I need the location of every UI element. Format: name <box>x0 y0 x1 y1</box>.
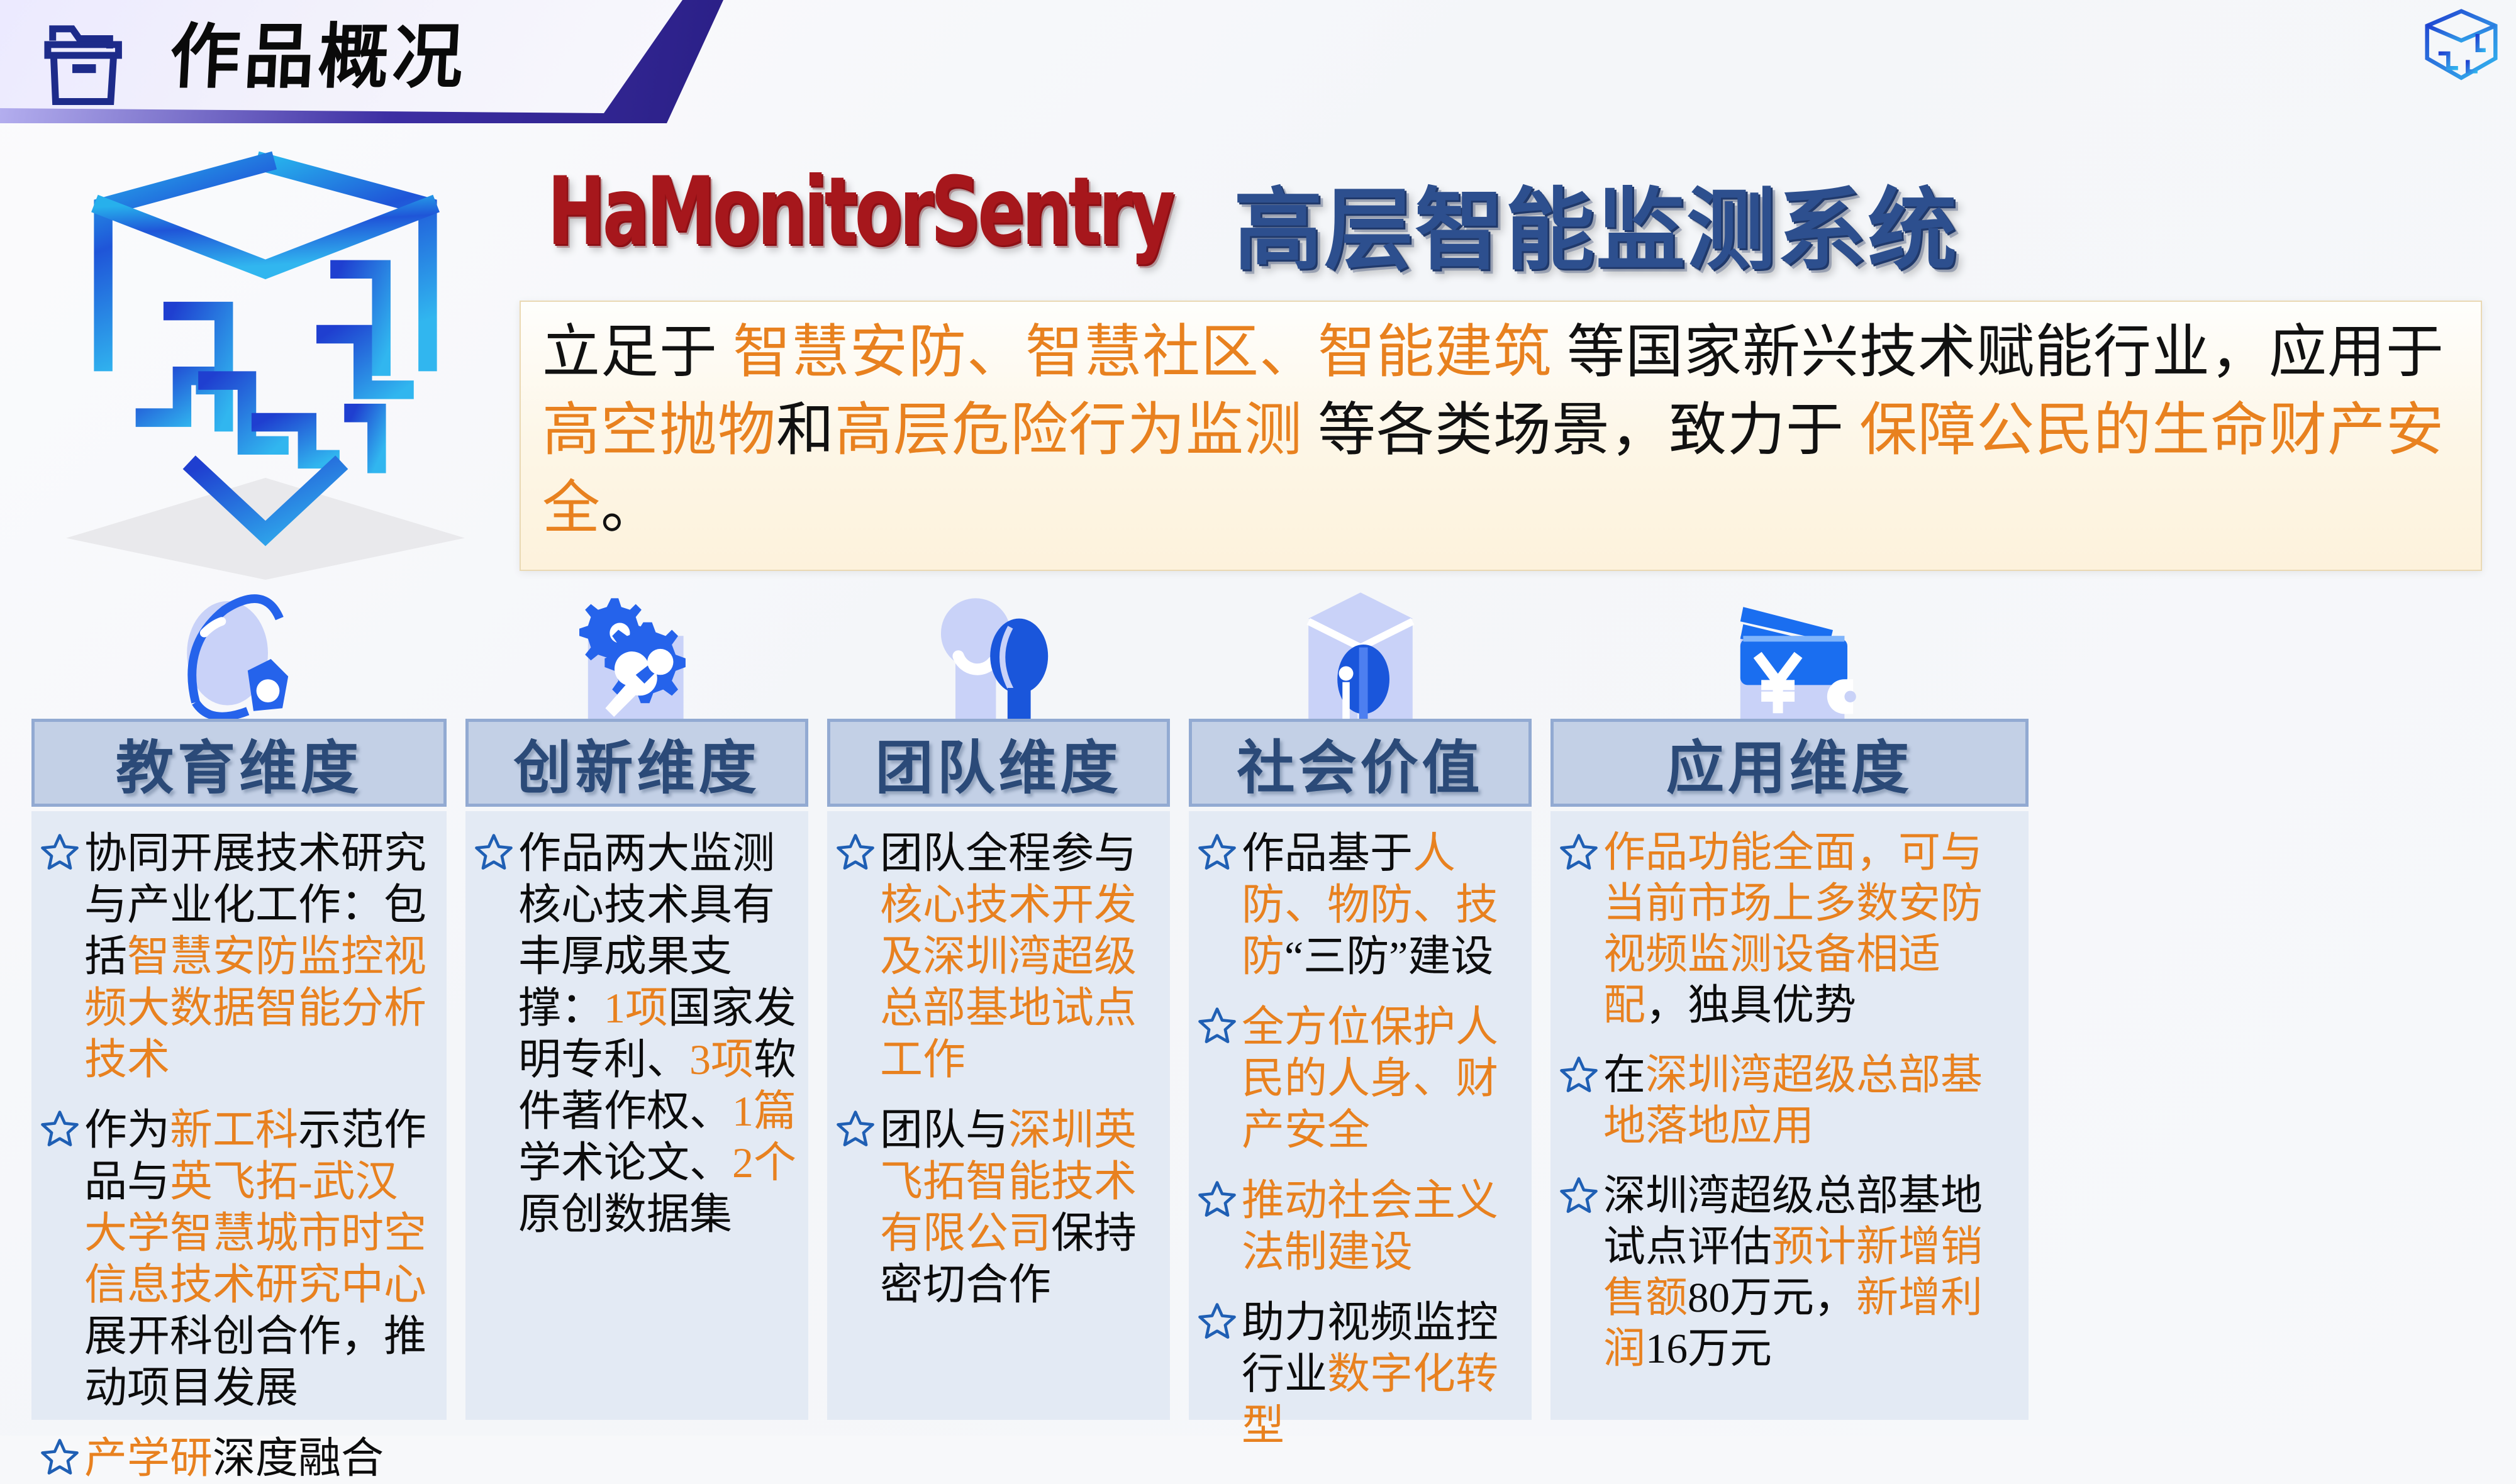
column-body-innovation: 作品两大监测核心技术具有丰厚成果支撑：1项国家发明专利、3项软件著作权、1篇学术… <box>465 811 808 1420</box>
col4-b2-seg-2: 80万元， <box>1688 1275 1856 1321</box>
column-header-social-value: 社会价值 <box>1189 719 1532 807</box>
description-seg-1: 智慧安防、智慧社区、智能建筑 <box>733 320 1552 384</box>
col1-b0-seg-5: 1篇 <box>732 1087 796 1135</box>
title-chinese: 高层智能监测系统 <box>1233 157 1958 287</box>
bullet-item: 作品基于人防、物防、技防“三防”建设 <box>1196 828 1522 982</box>
col4-b0-seg-2: ，独具优势 <box>1645 982 1856 1029</box>
cube-shield-circuit-logo <box>33 140 498 580</box>
column-header-innovation: 创新维度 <box>465 719 808 807</box>
col0-b1-seg-4: 展开科创合作，推动项目发展 <box>84 1312 426 1412</box>
team-people-icon <box>927 584 1071 734</box>
banner-title: 作品概况 <box>167 8 469 108</box>
dimension-column-team[interactable]: 团队维度 团队全程参与核心技术开发及深圳湾超级总部基地试点工作团队与深圳英飞拓智… <box>827 584 1170 1420</box>
bullet-text: 助力视频监控行业数字化转型 <box>1242 1297 1522 1451</box>
col0-b1-seg-0: 作为 <box>84 1106 170 1154</box>
star-bullet-icon <box>39 1436 81 1478</box>
column-body-application: 作品功能全面，可与当前市场上多数安防视频监测设备相适配，独具优势在深圳湾超级总部… <box>1550 811 2029 1420</box>
star-bullet-icon <box>1196 1178 1238 1220</box>
slide-canvas: 作品概况 <box>0 0 2516 1436</box>
bullet-item: 作品两大监测核心技术具有丰厚成果支撑：1项国家发明专利、3项软件著作权、1篇学术… <box>473 828 798 1240</box>
col3-b0-seg-0: 作品基于 <box>1242 829 1413 877</box>
col0-b2-seg-1: 深度融合 <box>213 1434 384 1482</box>
bullet-text: 产学研深度融合 <box>84 1432 384 1484</box>
col2-b0-seg-1: 核心技术开发及深圳湾超级总部基地试点工作 <box>880 881 1137 1083</box>
col1-b0-seg-3: 3项 <box>689 1036 754 1083</box>
description-seg-6: 等各类场景，致力于 <box>1303 398 1859 462</box>
bullet-text: 作品基于人防、物防、技防“三防”建设 <box>1242 828 1522 982</box>
column-header-text: 教育维度 <box>116 721 362 805</box>
atom-education-icon <box>167 584 311 734</box>
star-bullet-icon <box>1196 1005 1238 1046</box>
column-header-text: 创新维度 <box>513 721 760 805</box>
col1-b0-seg-8: 原创数据集 <box>518 1190 732 1238</box>
col1-b0-seg-6: 学术论文、 <box>518 1139 732 1187</box>
col4-b1-seg-1: 深圳湾超级总部基地落地应用 <box>1603 1052 1983 1149</box>
col0-b2-seg-0: 产学研 <box>84 1434 213 1482</box>
bullet-item: 推动社会主义法制建设 <box>1196 1175 1522 1278</box>
col3-b1-seg-0: 全方位保护人民的人身、财产安全 <box>1242 1003 1498 1154</box>
bullet-text: 作品两大监测核心技术具有丰厚成果支撑：1项国家发明专利、3项软件著作权、1篇学术… <box>518 828 798 1240</box>
bullet-item: 作为新工科示范作品与英飞拓-武汉大学智慧城市时空信息技术研究中心展开科创合作，推… <box>39 1104 437 1414</box>
star-bullet-icon <box>39 1108 81 1149</box>
gears-wrench-innovation-icon <box>565 584 710 734</box>
dimension-column-education[interactable]: 教育维度 协同开展技术研究与产业化工作：包括智慧安防监控视频大数据智能分析技术作… <box>31 584 447 1420</box>
cube-shield-circuit-logo-corner <box>2420 6 2502 101</box>
description-seg-8: 。 <box>601 476 659 540</box>
bullet-item: 全方位保护人民的人身、财产安全 <box>1196 1001 1522 1156</box>
column-header-text: 团队维度 <box>875 721 1122 805</box>
page-title: HaMonitorSentry高层智能监测系统 <box>547 157 2485 270</box>
description-seg-3: 高空抛物 <box>542 398 776 462</box>
bullet-text: 团队与深圳英飞拓智能技术有限公司保持密切合作 <box>880 1104 1160 1310</box>
bullet-text: 在深圳湾超级总部基地落地应用 <box>1603 1050 2018 1152</box>
star-bullet-icon <box>1558 831 1600 873</box>
column-header-text: 应用维度 <box>1666 721 1913 805</box>
description-seg-0: 立足于 <box>542 320 733 384</box>
bullet-text: 作为新工科示范作品与英飞拓-武汉大学智慧城市时空信息技术研究中心展开科创合作，推… <box>84 1104 437 1414</box>
star-bullet-icon <box>835 831 876 873</box>
bullet-item: 助力视频监控行业数字化转型 <box>1196 1297 1522 1451</box>
title-english: HaMonitorSentry <box>547 157 1172 267</box>
col3-b0-seg-2: “三防”建设 <box>1284 933 1493 980</box>
bullet-item: 团队全程参与核心技术开发及深圳湾超级总部基地试点工作 <box>835 828 1160 1085</box>
description-seg-2: 等国家新兴技术赋能行业，应用于 <box>1552 320 2444 384</box>
col0-b1-seg-1: 新工科 <box>170 1106 298 1154</box>
star-bullet-icon <box>39 831 81 873</box>
bullet-item: 产学研深度融合 <box>39 1432 437 1484</box>
column-header-education: 教育维度 <box>31 719 447 807</box>
bullet-item: 团队与深圳英飞拓智能技术有限公司保持密切合作 <box>835 1104 1160 1310</box>
section-banner: 作品概况 <box>0 0 723 123</box>
bullet-text: 推动社会主义法制建设 <box>1242 1175 1522 1278</box>
bullet-text: 团队全程参与核心技术开发及深圳湾超级总部基地试点工作 <box>880 828 1160 1085</box>
dimension-column-application[interactable]: 应用维度 作品功能全面，可与当前市场上多数安防视频监测设备相适配，独具优势在深圳… <box>1550 584 2029 1420</box>
bullet-item: 在深圳湾超级总部基地落地应用 <box>1558 1050 2018 1152</box>
col4-b0-seg-0: 作品功能全面，可 <box>1603 829 1940 876</box>
description-box: 立足于 智慧安防、智慧社区、智能建筑 等国家新兴技术赋能行业，应用于 高空抛物和… <box>520 301 2482 571</box>
star-bullet-icon <box>1558 1175 1600 1216</box>
col4-b1-seg-0: 在 <box>1603 1052 1645 1099</box>
column-header-application: 应用维度 <box>1550 719 2029 807</box>
col0-b0-seg-1: 智慧安防监控视频大数据智能分析技术 <box>84 933 426 1083</box>
dimension-columns: 教育维度 协同开展技术研究与产业化工作：包括智慧安防监控视频大数据智能分析技术作… <box>31 584 2491 1420</box>
column-body-education: 协同开展技术研究与产业化工作：包括智慧安防监控视频大数据智能分析技术作为新工科示… <box>31 811 447 1420</box>
column-header-text: 社会价值 <box>1237 721 1483 805</box>
star-bullet-icon <box>1196 831 1238 873</box>
bullet-item: 深圳湾超级总部基地试点评估预计新增销售额80万元，新增利润16万元 <box>1558 1171 2018 1375</box>
bullet-text: 全方位保护人民的人身、财产安全 <box>1242 1001 1522 1156</box>
bullet-item: 协同开展技术研究与产业化工作：包括智慧安防监控视频大数据智能分析技术 <box>39 828 437 1085</box>
archive-folder-icon <box>38 15 138 109</box>
column-body-social-value: 作品基于人防、物防、技防“三防”建设全方位保护人民的人身、财产安全推动社会主义法… <box>1189 811 1532 1420</box>
bullet-text: 深圳湾超级总部基地试点评估预计新增销售额80万元，新增利润16万元 <box>1603 1171 2018 1375</box>
wallet-yuan-icon <box>1717 584 1862 734</box>
col2-b1-seg-0: 团队与 <box>880 1106 1008 1154</box>
building-cube-icon <box>1288 584 1433 734</box>
dimension-column-innovation[interactable]: 创新维度 作品两大监测核心技术具有丰厚成果支撑：1项国家发明专利、3项软件著作权… <box>465 584 808 1420</box>
bullet-item: 作品功能全面，可与当前市场上多数安防视频监测设备相适配，独具优势 <box>1558 828 2018 1031</box>
column-body-team: 团队全程参与核心技术开发及深圳湾超级总部基地试点工作团队与深圳英飞拓智能技术有限… <box>827 811 1170 1420</box>
description-seg-5: 高层危险行为监测 <box>835 398 1303 462</box>
star-bullet-icon <box>473 831 515 873</box>
bullet-text: 作品功能全面，可与当前市场上多数安防视频监测设备相适配，独具优势 <box>1603 828 2018 1031</box>
star-bullet-icon <box>835 1108 876 1149</box>
col1-b0-seg-7: 2个 <box>732 1139 796 1187</box>
star-bullet-icon <box>1196 1300 1238 1342</box>
col4-b2-seg-4: 16万元 <box>1645 1326 1772 1372</box>
col2-b0-seg-0: 团队全程参与 <box>880 829 1137 877</box>
star-bullet-icon <box>1558 1054 1600 1095</box>
col1-b0-seg-1: 1项 <box>604 984 668 1032</box>
col3-b2-seg-0: 推动社会主义法制建设 <box>1242 1177 1498 1276</box>
column-header-team: 团队维度 <box>827 719 1170 807</box>
description-seg-4: 和 <box>776 398 835 462</box>
dimension-column-social-value[interactable]: 社会价值 作品基于人防、物防、技防“三防”建设全方位保护人民的人身、财产安全推动… <box>1189 584 1532 1420</box>
bullet-text: 协同开展技术研究与产业化工作：包括智慧安防监控视频大数据智能分析技术 <box>84 828 437 1085</box>
